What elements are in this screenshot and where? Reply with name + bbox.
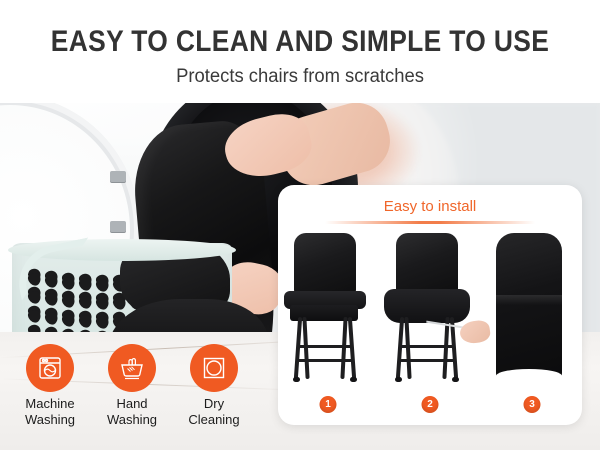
chair-leg <box>404 317 411 379</box>
care-label: Hand Washing <box>90 396 174 428</box>
install-step-3: 3 <box>484 231 580 425</box>
care-item-hand-washing: Hand Washing <box>90 344 174 428</box>
chair-illustration-covered <box>484 233 580 383</box>
page-title: EASY TO CLEAN AND SIMPLE TO USE <box>36 25 564 59</box>
chair-rail <box>298 345 352 348</box>
product-feature-banner: EASY TO CLEAN AND SIMPLE TO USE Protects… <box>0 0 600 450</box>
care-label: Machine Washing <box>8 396 92 428</box>
card-title-underline <box>325 221 535 224</box>
install-steps: 1 2 <box>278 231 582 425</box>
chair-foot <box>395 377 402 382</box>
door-hinge-top <box>110 171 126 182</box>
step-number-badge: 1 <box>320 396 337 413</box>
page-subtitle: Protects chairs from scratches <box>9 66 591 88</box>
door-hinge-bottom <box>110 221 126 232</box>
basket-hole <box>77 293 95 311</box>
chair-leg <box>302 317 309 379</box>
chair-leg <box>396 317 404 379</box>
basket-hole <box>60 292 78 310</box>
care-item-dry-cleaning: Dry Cleaning <box>172 344 256 428</box>
care-label-line2: Washing <box>107 412 157 427</box>
chair-leg <box>294 317 302 379</box>
basket-hole <box>94 313 112 331</box>
cover-bottom-notch <box>496 369 562 383</box>
care-label-line1: Machine <box>25 396 74 411</box>
care-icon-badge <box>108 344 156 392</box>
basket-hole <box>43 309 61 327</box>
care-label: Dry Cleaning <box>172 396 256 428</box>
chair-leg <box>348 317 356 379</box>
care-label-line2: Cleaning <box>188 412 239 427</box>
chair-illustration-uncovered <box>280 233 376 383</box>
basket-hole <box>26 307 44 325</box>
care-label-line2: Washing <box>25 412 75 427</box>
basket-hole <box>94 294 112 312</box>
fully-covered-chair <box>496 233 562 383</box>
hand-wash-icon <box>118 354 146 382</box>
basket-hole <box>77 312 95 330</box>
care-label-line1: Hand <box>116 396 147 411</box>
banner-header: EASY TO CLEAN AND SIMPLE TO USE Protects… <box>0 0 600 103</box>
chair-foot <box>452 377 459 382</box>
chair-rail <box>400 359 454 362</box>
chair-back <box>294 233 356 295</box>
care-instructions-group: Machine Washing Hand Washing <box>0 344 268 444</box>
care-icon-badge <box>26 344 74 392</box>
basket-hole <box>60 311 78 329</box>
chair-back <box>396 233 458 295</box>
step-number-badge: 3 <box>524 396 541 413</box>
step-number-badge: 2 <box>422 396 439 413</box>
install-step-1: 1 <box>280 231 376 425</box>
dry-cleaning-icon <box>200 354 228 382</box>
care-icon-badge <box>190 344 238 392</box>
card-title: Easy to install <box>278 198 582 215</box>
cover-drape <box>384 289 470 323</box>
chair-leg <box>340 317 347 379</box>
install-step-2: 2 <box>382 231 478 425</box>
chair-foot <box>350 377 357 382</box>
washing-machine-icon <box>36 354 64 382</box>
chair-rail <box>400 345 454 348</box>
chair-foot <box>293 377 300 382</box>
chair-illustration-covering <box>382 233 478 383</box>
care-item-machine-washing: Machine Washing <box>8 344 92 428</box>
easy-to-install-card: Easy to install 1 <box>278 185 582 425</box>
care-label-line1: Dry <box>204 396 224 411</box>
chair-rail <box>298 359 352 362</box>
